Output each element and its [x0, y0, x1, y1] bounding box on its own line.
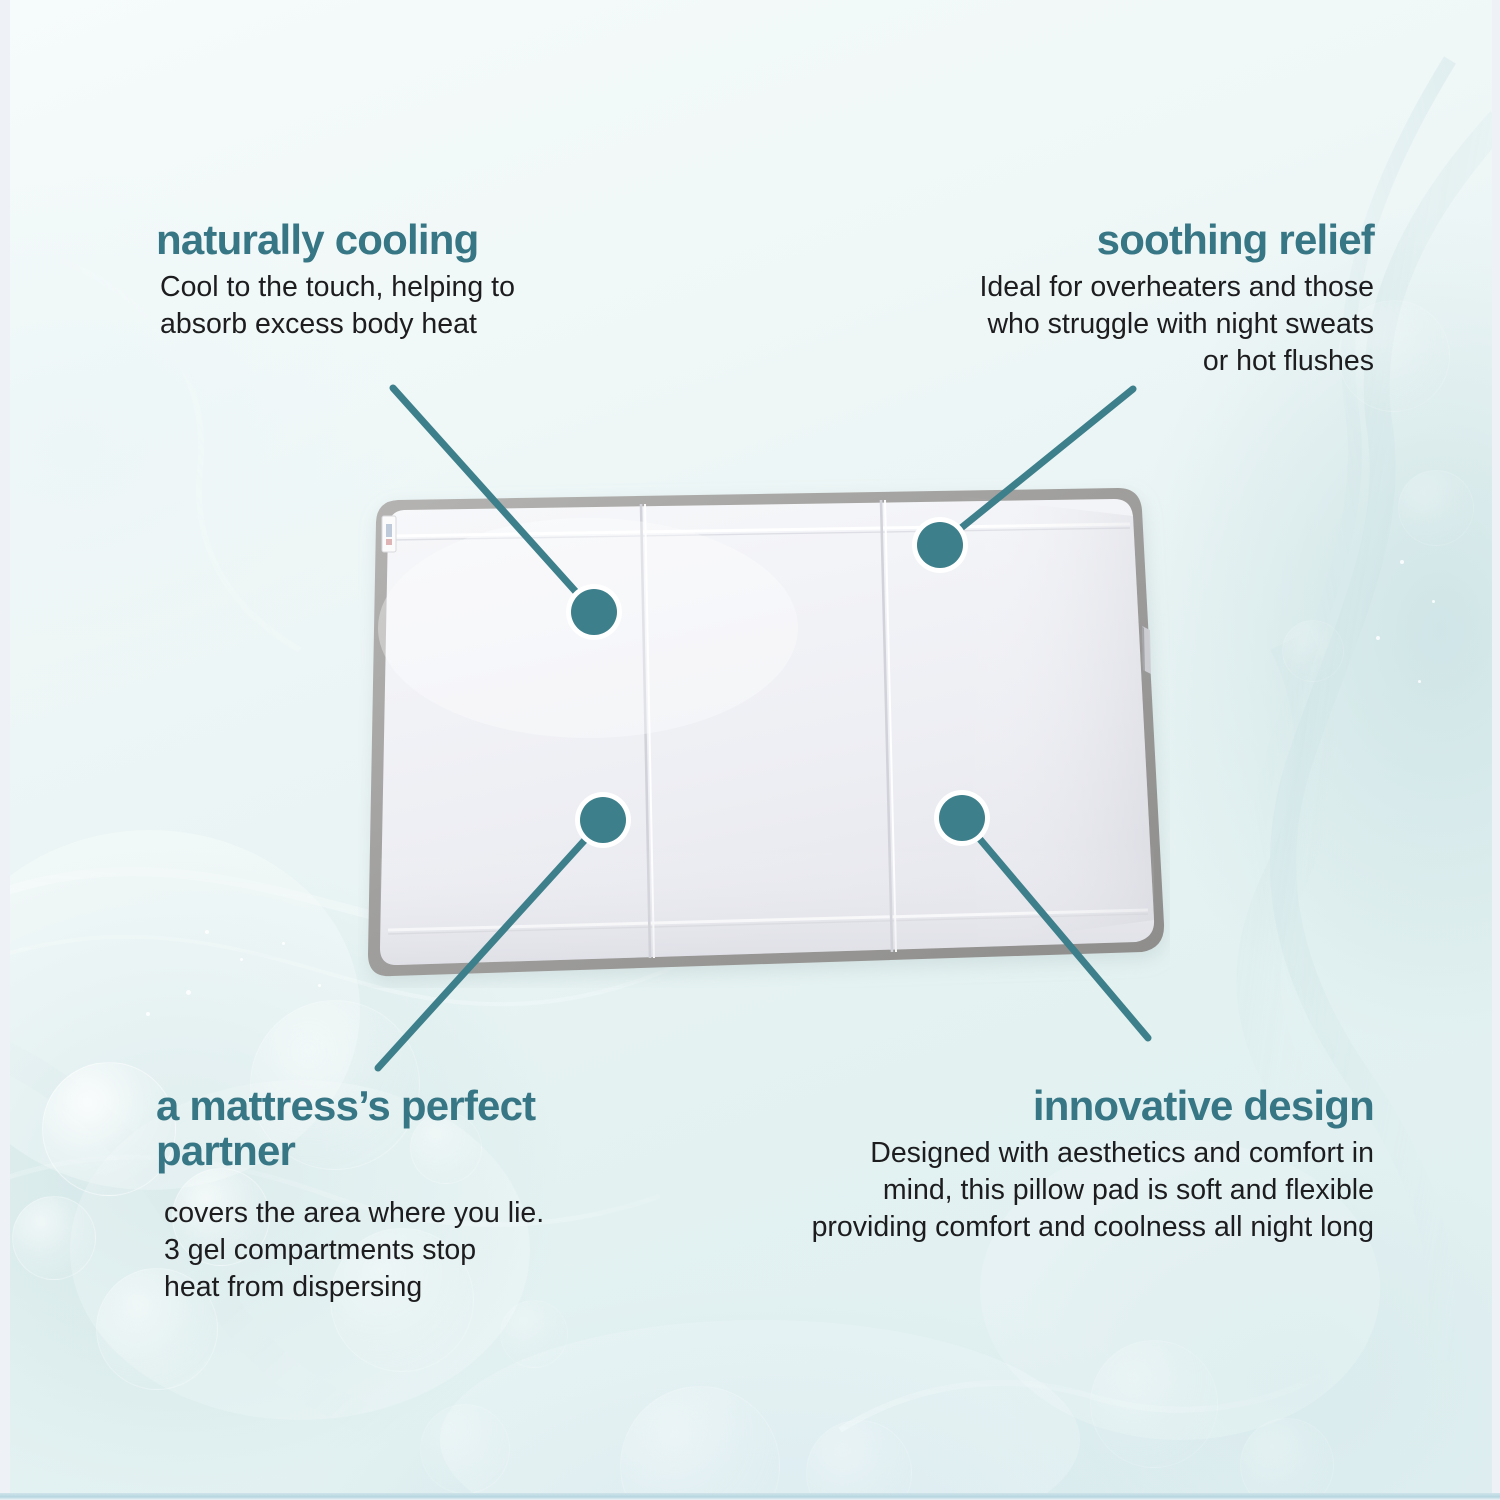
callout-heading-perfect-partner: a mattress’s perfect partner [156, 1084, 576, 1173]
callout-body-line: heat from dispersing [164, 1269, 576, 1306]
mattress-pad-illustration [358, 478, 1170, 988]
callout-naturally-cooling: naturally cooling Cool to the touch, hel… [156, 218, 515, 343]
callout-body-line: absorb excess body heat [160, 306, 515, 343]
canvas-left-edge [0, 0, 10, 1500]
callout-body-line: Designed with aesthetics and comfort in [812, 1135, 1374, 1172]
callout-perfect-partner: a mattress’s perfect partner covers the … [156, 1084, 576, 1306]
marker-soothing-relief[interactable] [917, 522, 963, 568]
care-label-tag [382, 516, 396, 552]
callout-soothing-relief: soothing relief Ideal for overheaters an… [979, 218, 1374, 380]
canvas-bottom-edge [0, 1493, 1500, 1500]
callout-body-innovative-design: Designed with aesthetics and comfort in … [812, 1135, 1374, 1246]
infographic-canvas: naturally cooling Cool to the touch, hel… [0, 0, 1500, 1500]
callout-body-line: covers the area where you lie. [164, 1195, 576, 1232]
callout-body-naturally-cooling: Cool to the touch, helping to absorb exc… [156, 269, 515, 343]
callout-body-line: 3 gel compartments stop [164, 1232, 576, 1269]
callout-body-perfect-partner: covers the area where you lie. 3 gel com… [156, 1195, 576, 1306]
callout-heading-soothing-relief: soothing relief [979, 218, 1374, 263]
callout-body-line: providing comfort and coolness all night… [812, 1209, 1374, 1246]
callout-body-line: or hot flushes [979, 343, 1374, 380]
marker-perfect-partner[interactable] [580, 797, 626, 843]
callout-body-line: mind, this pillow pad is soft and flexib… [812, 1172, 1374, 1209]
marker-innovative-design[interactable] [939, 795, 985, 841]
marker-naturally-cooling[interactable] [571, 589, 617, 635]
callout-innovative-design: innovative design Designed with aestheti… [812, 1084, 1374, 1246]
callout-body-line: Ideal for overheaters and those [979, 269, 1374, 306]
callout-body-soothing-relief: Ideal for overheaters and those who stru… [979, 269, 1374, 380]
product-image-cooling-mattress-pad [358, 478, 1170, 988]
callout-heading-naturally-cooling: naturally cooling [156, 218, 515, 263]
callout-body-line: Cool to the touch, helping to [160, 269, 515, 306]
canvas-right-edge [1492, 0, 1500, 1500]
callout-heading-line: a mattress’s [156, 1082, 390, 1129]
side-tag [1142, 626, 1151, 674]
callout-heading-innovative-design: innovative design [812, 1084, 1374, 1129]
callout-body-line: who struggle with night sweats [979, 306, 1374, 343]
